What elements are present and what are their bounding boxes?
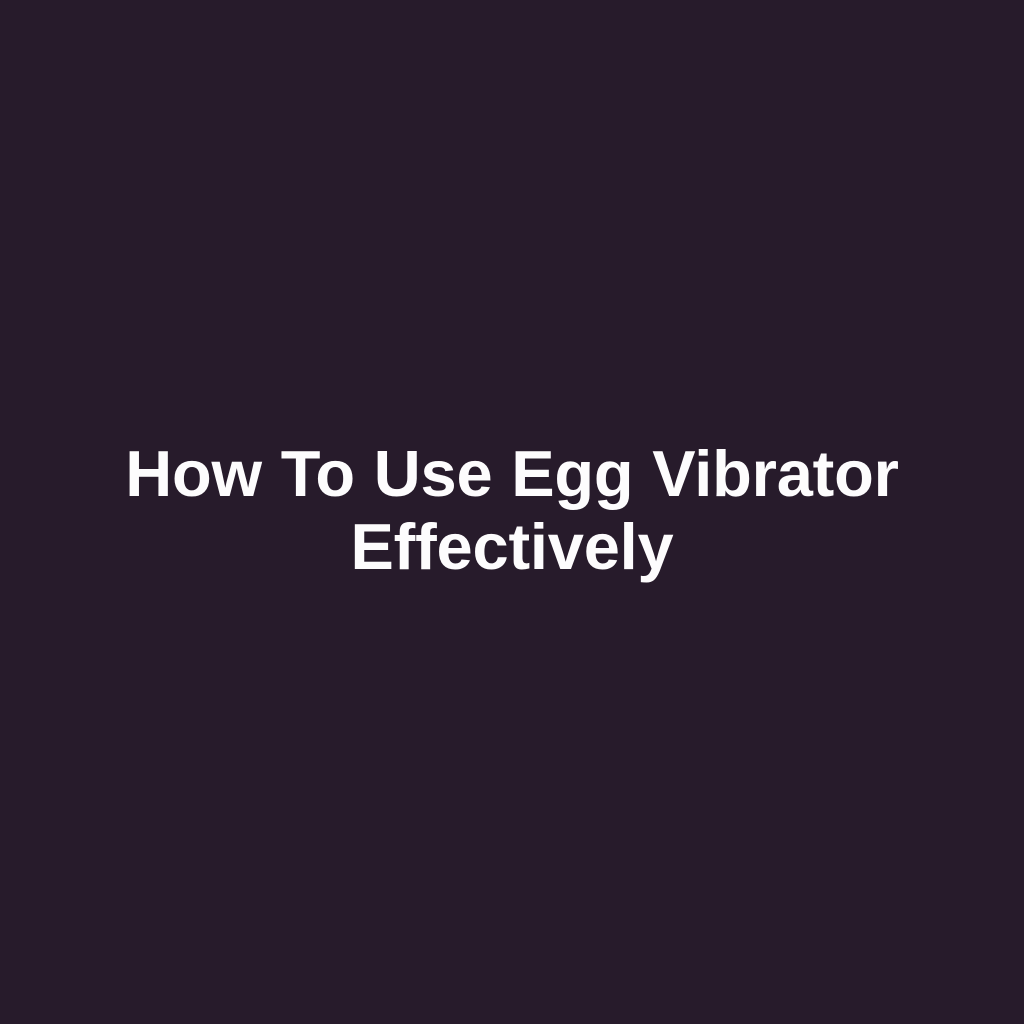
page-title: How To Use Egg Vibrator Effectively: [97, 437, 927, 583]
title-card: How To Use Egg Vibrator Effectively: [0, 0, 1024, 1024]
title-text-block: How To Use Egg Vibrator Effectively: [97, 437, 927, 583]
